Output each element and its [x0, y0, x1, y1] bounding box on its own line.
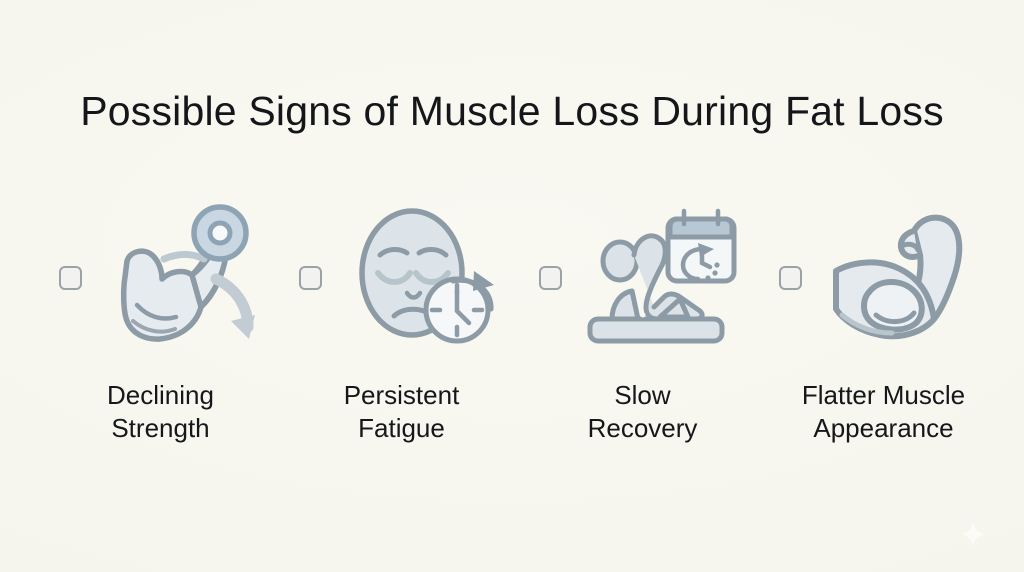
- list-item: Slow Recovery: [522, 190, 763, 446]
- list-item-label: Persistent Fatigue: [344, 379, 460, 446]
- label-line-2: Fatigue: [344, 412, 460, 445]
- person-stretching-on-mat-with-calendar-clock-icon: [576, 193, 746, 363]
- list-item-label: Slow Recovery: [588, 379, 698, 446]
- checkbox-declining-strength[interactable]: [59, 266, 82, 290]
- tired-face-with-clock-icon: [334, 193, 504, 363]
- label-line-2: Appearance: [802, 412, 965, 445]
- list-item-label: Flatter Muscle Appearance: [802, 379, 965, 446]
- list-item: Persistent Fatigue: [281, 190, 522, 446]
- icon-row: [522, 190, 763, 365]
- checkbox-flatter-muscle-appearance[interactable]: [779, 266, 802, 290]
- label-line-1: Persistent: [344, 379, 460, 412]
- sparkle-icon: [958, 519, 988, 549]
- list-item-label: Declining Strength: [107, 379, 214, 446]
- infographic-page: Possible Signs of Muscle Loss During Fat…: [0, 0, 1024, 572]
- checkbox-persistent-fatigue[interactable]: [299, 266, 322, 290]
- page-title: Possible Signs of Muscle Loss During Fat…: [0, 88, 1024, 135]
- checkbox-slow-recovery[interactable]: [539, 266, 562, 290]
- label-line-2: Recovery: [588, 412, 698, 445]
- label-line-1: Slow: [588, 379, 698, 412]
- list-item: Declining Strength: [40, 190, 281, 446]
- label-line-2: Strength: [107, 412, 214, 445]
- flexed-bicep-arm-icon: [818, 193, 988, 363]
- signs-list: Declining Strength: [40, 190, 1004, 446]
- flexed-arm-with-weight-plate-declining-icon: [92, 193, 262, 363]
- icon-row: [40, 190, 281, 365]
- label-line-1: Declining: [107, 379, 214, 412]
- icon-row: [281, 190, 522, 365]
- label-line-1: Flatter Muscle: [802, 379, 965, 412]
- icon-row: [763, 190, 1004, 365]
- list-item: Flatter Muscle Appearance: [763, 190, 1004, 446]
